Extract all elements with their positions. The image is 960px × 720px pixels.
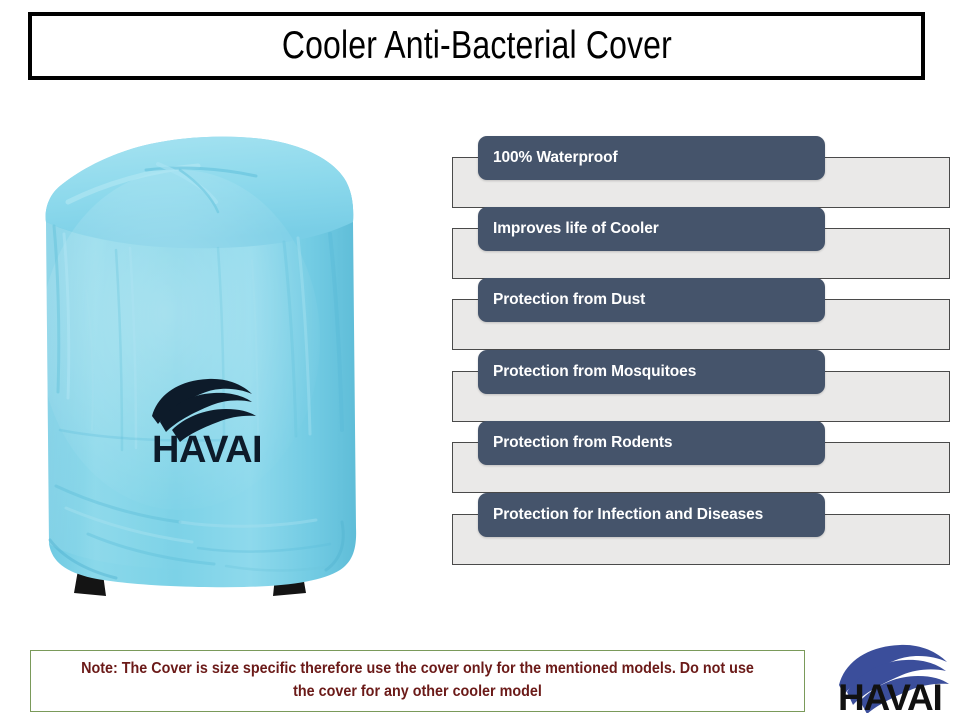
feature-row[interactable]: 100% Waterproof [452,136,950,211]
feature-label: Protection for Infection and Diseases [478,506,763,524]
feature-row[interactable]: Protection from Dust [452,278,950,353]
note-text: Note: The Cover is size specific therefo… [69,658,765,703]
feature-label: Protection from Rodents [478,434,672,452]
logo-wordmark: HAVAI [838,677,942,713]
feature-label: Improves life of Cooler [478,220,659,238]
feature-label: 100% Waterproof [478,149,618,167]
feature-pill[interactable]: Improves life of Cooler [478,207,825,251]
feature-pill[interactable]: Protection from Dust [478,278,825,322]
cooler-cover-illustration: HAVAI [30,130,370,600]
note-box: Note: The Cover is size specific therefo… [30,650,805,712]
feature-label: Protection from Mosquitoes [478,363,696,381]
feature-row[interactable]: Improves life of Cooler [452,207,950,282]
feature-pill[interactable]: 100% Waterproof [478,136,825,180]
havai-logo: HAVAI [836,643,952,713]
page-title: Cooler Anti-Bacterial Cover [281,24,671,68]
feature-row[interactable]: Protection from Rodents [452,421,950,496]
feature-pill[interactable]: Protection from Mosquitoes [478,350,825,394]
feature-row[interactable]: Protection for Infection and Diseases [452,493,950,568]
svg-text:HAVAI: HAVAI [152,429,262,471]
feature-label: Protection from Dust [478,291,645,309]
product-image: HAVAI [30,130,370,600]
page-title-box: Cooler Anti-Bacterial Cover [28,12,925,80]
feature-row[interactable]: Protection from Mosquitoes [452,350,950,425]
feature-pill[interactable]: Protection for Infection and Diseases [478,493,825,537]
havai-logo-mark: HAVAI [836,643,952,713]
feature-pill[interactable]: Protection from Rodents [478,421,825,465]
